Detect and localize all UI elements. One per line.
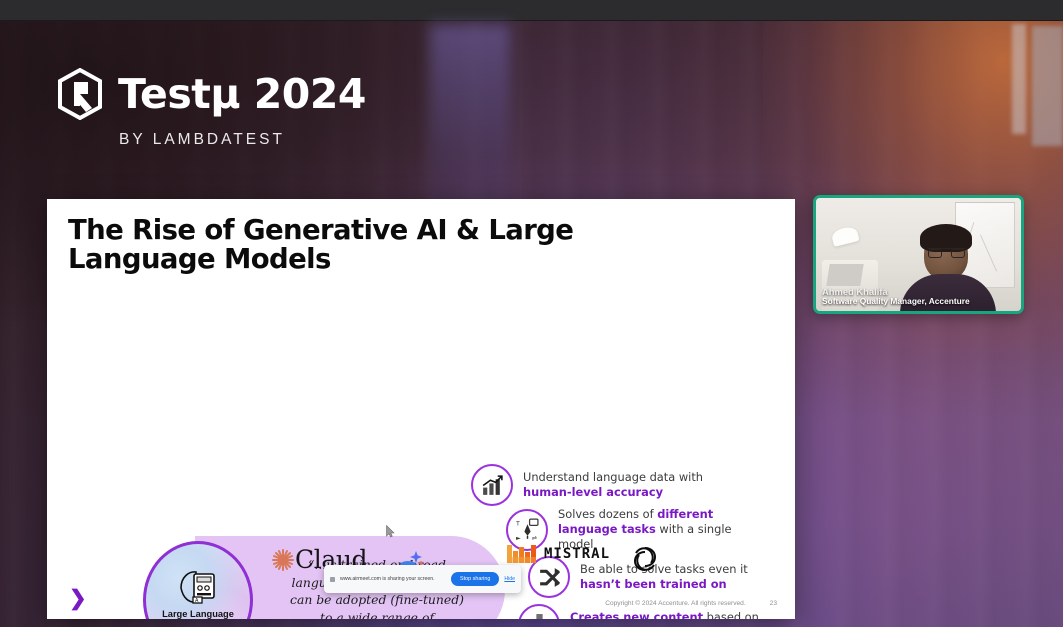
- mistral-logo: MISTRAL: [507, 543, 610, 565]
- mistral-wordmark: MISTRAL: [544, 546, 610, 562]
- llm-badge-label: Large Language Models: [162, 609, 234, 619]
- llm-badge-label-line1: Large Language: [162, 609, 234, 619]
- mouse-cursor: [386, 525, 395, 538]
- bar-chart-growth-icon: [471, 464, 513, 506]
- background-highlight-bar-2: [1032, 26, 1063, 146]
- slide-copyright: Copyright © 2024 Accenture. All rights r…: [605, 600, 745, 607]
- speaker-name: Ahmed Khalifa: [822, 286, 970, 297]
- slide-next-chevron[interactable]: ❯: [69, 588, 87, 609]
- content-generation-icon: [518, 604, 560, 619]
- openai-knot-icon: [629, 543, 661, 575]
- presentation-slide[interactable]: The Rise of Generative AI & Large Langua…: [47, 199, 795, 619]
- testmu-hex-logo-icon: [56, 68, 104, 120]
- speaker-role: Software Quality Manager, Accenture: [822, 297, 970, 307]
- slide-page-number: 23: [770, 600, 777, 607]
- svg-text:A: A: [195, 598, 199, 604]
- screen-share-notification-bar[interactable]: www.airmeet.com is sharing your screen. …: [324, 565, 521, 593]
- speaker-glasses-icon: [928, 248, 965, 257]
- claude-starburst-icon: [271, 548, 295, 572]
- brand-title: Testμ 2024: [118, 74, 366, 115]
- bullet-text: Creates new content based on context und…: [570, 610, 776, 619]
- svg-text:T: T: [515, 521, 520, 528]
- bullet-text: Understand language data with human-leve…: [523, 470, 729, 500]
- background-highlight-bar-1: [1012, 24, 1026, 134]
- hide-sharing-bar-link[interactable]: Hide: [504, 576, 515, 582]
- browser-chrome-bar: [0, 0, 1063, 21]
- mistral-blocks-icon: [507, 543, 536, 565]
- testmu-brand-lockup: Testμ 2024 BY LAMBDATEST: [56, 68, 366, 149]
- share-message: www.airmeet.com is sharing your screen.: [340, 576, 446, 582]
- speaker-video-tile[interactable]: Ahmed Khalifa Software Quality Manager, …: [813, 195, 1024, 314]
- quote-line: can be adopted (fine-tuned): [290, 592, 464, 607]
- video-laptop: [826, 264, 863, 286]
- brand-subtitle: BY LAMBDATEST: [119, 131, 366, 149]
- bullet-item: Understand language data with human-leve…: [471, 464, 729, 506]
- slide-title: The Rise of Generative AI & Large Langua…: [68, 216, 708, 273]
- quote-line: to a wide range of: [320, 610, 434, 619]
- speaker-name-plate: Ahmed Khalifa Software Quality Manager, …: [822, 286, 970, 307]
- stop-sharing-button[interactable]: Stop sharing: [451, 572, 499, 586]
- slide-footer: Copyright © 2024 Accenture. All rights r…: [605, 600, 777, 607]
- share-indicator-icon: [330, 577, 335, 582]
- openai-logo: [629, 543, 661, 575]
- screen-share-viewport: Testμ 2024 BY LAMBDATEST The Rise of Gen…: [0, 0, 1063, 627]
